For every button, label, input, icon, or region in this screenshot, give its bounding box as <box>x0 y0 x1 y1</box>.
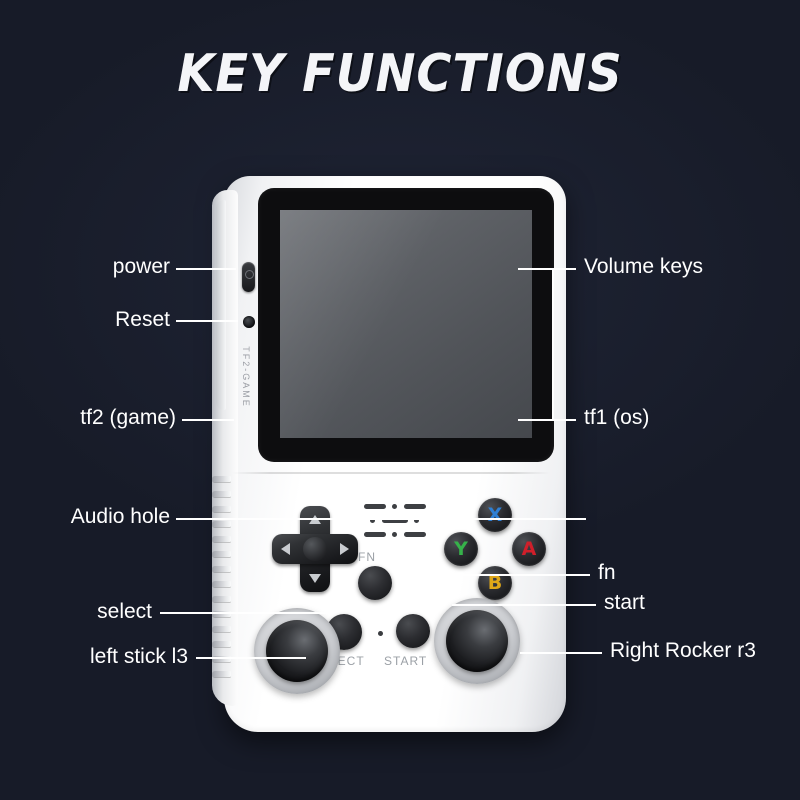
dpad-right-icon[interactable] <box>340 543 349 555</box>
button-b[interactable]: B <box>478 566 512 600</box>
screenshot-root: KEY FUNCTIONS TF2-GAME <box>0 0 800 800</box>
shell-seam <box>232 472 550 474</box>
fn-button[interactable] <box>358 566 392 600</box>
power-button[interactable] <box>242 262 255 292</box>
reset-pinhole[interactable] <box>243 316 255 328</box>
audio-hole-grip-ridges <box>212 476 232 682</box>
dpad-hub <box>303 537 327 561</box>
ridge <box>212 566 231 572</box>
leader-line-volume-keys <box>518 268 576 270</box>
right-analog-stick[interactable] <box>434 598 520 684</box>
button-y[interactable]: Y <box>444 532 478 566</box>
console-rail-lip <box>216 200 226 410</box>
callout-right-rocker: Right Rocker r3 <box>610 640 756 661</box>
ridge <box>212 626 231 632</box>
grille-pill <box>364 532 386 537</box>
handheld-console: TF2-GAME <box>206 176 566 732</box>
ridge <box>212 551 231 557</box>
ridge <box>212 581 231 587</box>
button-a-letter: A <box>522 540 537 559</box>
grille-pill <box>404 504 426 509</box>
ridge <box>212 641 231 647</box>
dpad-down-icon[interactable] <box>309 574 321 583</box>
callout-select: select <box>10 601 152 622</box>
callout-tf2-game: tf2 (game) <box>10 407 176 428</box>
callout-volume-keys: Volume keys <box>584 256 703 277</box>
button-x[interactable]: X <box>478 498 512 532</box>
leader-line-select <box>160 612 334 614</box>
fn-caption: FN <box>358 550 376 564</box>
ridge <box>212 506 231 512</box>
leader-line-start <box>452 604 596 606</box>
callout-power: power <box>20 256 170 277</box>
callout-left-stick: left stick l3 <box>10 646 188 667</box>
ridge <box>212 521 231 527</box>
button-y-letter: Y <box>454 540 468 559</box>
leader-line-left-stick <box>196 657 306 659</box>
leader-line-screen-edge <box>552 268 554 420</box>
leader-line-fn <box>420 574 590 576</box>
leader-line-reset <box>176 320 238 322</box>
leader-line-audio-hole <box>176 518 586 520</box>
start-caption: START <box>384 654 427 668</box>
grille-pill <box>404 532 426 537</box>
status-led <box>378 631 383 636</box>
left-analog-stick[interactable] <box>254 608 340 694</box>
grille-pill <box>364 504 386 509</box>
button-x-letter: X <box>488 506 503 525</box>
tf2-game-side-label: TF2-GAME <box>241 332 251 422</box>
callout-audio-hole: Audio hole <box>10 506 170 527</box>
callout-reset: Reset <box>20 309 170 330</box>
display-screen[interactable] <box>280 210 532 438</box>
grille-dot <box>392 504 397 509</box>
face-button-cluster[interactable]: X Y A B <box>444 498 546 600</box>
callout-tf1-os: tf1 (os) <box>584 407 649 428</box>
ridge <box>212 596 231 602</box>
left-stick-cap[interactable] <box>266 620 328 682</box>
screen-bezel <box>258 188 554 462</box>
start-button[interactable] <box>396 614 430 648</box>
callout-start: start <box>604 592 645 613</box>
page-title: KEY FUNCTIONS <box>32 44 768 104</box>
grille-dot <box>392 532 397 537</box>
speaker-grille <box>364 504 426 540</box>
ridge <box>212 671 231 677</box>
leader-line-tf2 <box>182 419 234 421</box>
button-a[interactable]: A <box>512 532 546 566</box>
button-b-letter: B <box>488 574 502 593</box>
leader-line-tf1 <box>518 419 576 421</box>
ridge <box>212 476 231 482</box>
ridge <box>212 491 231 497</box>
right-stick-cap[interactable] <box>446 610 508 672</box>
dpad-left-icon[interactable] <box>281 543 290 555</box>
leader-line-power <box>176 268 236 270</box>
callout-fn: fn <box>598 562 616 583</box>
leader-line-right-rocker <box>520 652 602 654</box>
ridge <box>212 536 231 542</box>
